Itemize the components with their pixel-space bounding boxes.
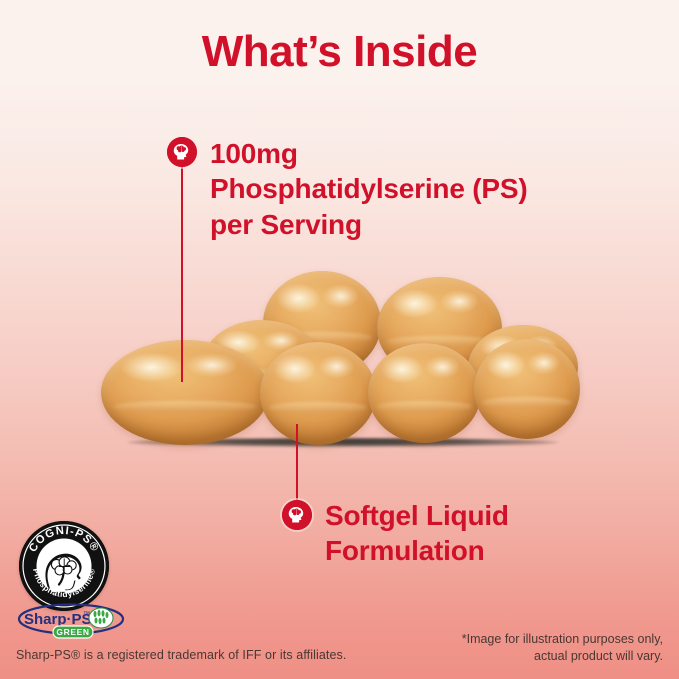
sharp-ps-green-logo: Sharp·PS ™ GREEN <box>17 601 125 639</box>
callout-line: per Serving <box>210 207 630 242</box>
sharp-ps-green-badge-text: GREEN <box>56 627 89 637</box>
green-leaf-icon <box>89 608 113 628</box>
disclaimer-line-2: actual product will vary. <box>462 648 663 665</box>
product-image <box>0 255 679 455</box>
brain-head-icon <box>167 137 197 167</box>
capsule <box>101 340 269 445</box>
capsule <box>368 343 481 443</box>
callout-text-1: 100mg Phosphatidylserine (PS) per Servin… <box>210 136 630 242</box>
infographic-canvas: What’s Inside 100mg <box>0 0 679 679</box>
callout-text-2: Softgel Liquid Formulation <box>325 498 655 569</box>
trademark-note: Sharp-PS® is a registered trademark of I… <box>16 648 346 662</box>
brain-head-icon <box>282 500 312 530</box>
cogni-ps-logo: COGNI-PS® Phosphatidylserine® <box>19 521 109 611</box>
capsule <box>260 342 376 445</box>
callout-line: Phosphatidylserine (PS) <box>210 171 630 206</box>
callout-leader-line-2 <box>296 424 298 508</box>
callout-line: 100mg <box>210 136 630 171</box>
page-title: What’s Inside <box>0 28 679 76</box>
callout-line: Formulation <box>325 533 655 568</box>
disclaimer-line-1: *Image for illustration purposes only, <box>462 631 663 648</box>
callout-line: Softgel Liquid <box>325 498 655 533</box>
image-disclaimer: *Image for illustration purposes only, a… <box>462 631 663 666</box>
callout-leader-line-1 <box>181 160 183 382</box>
capsule <box>474 339 580 439</box>
